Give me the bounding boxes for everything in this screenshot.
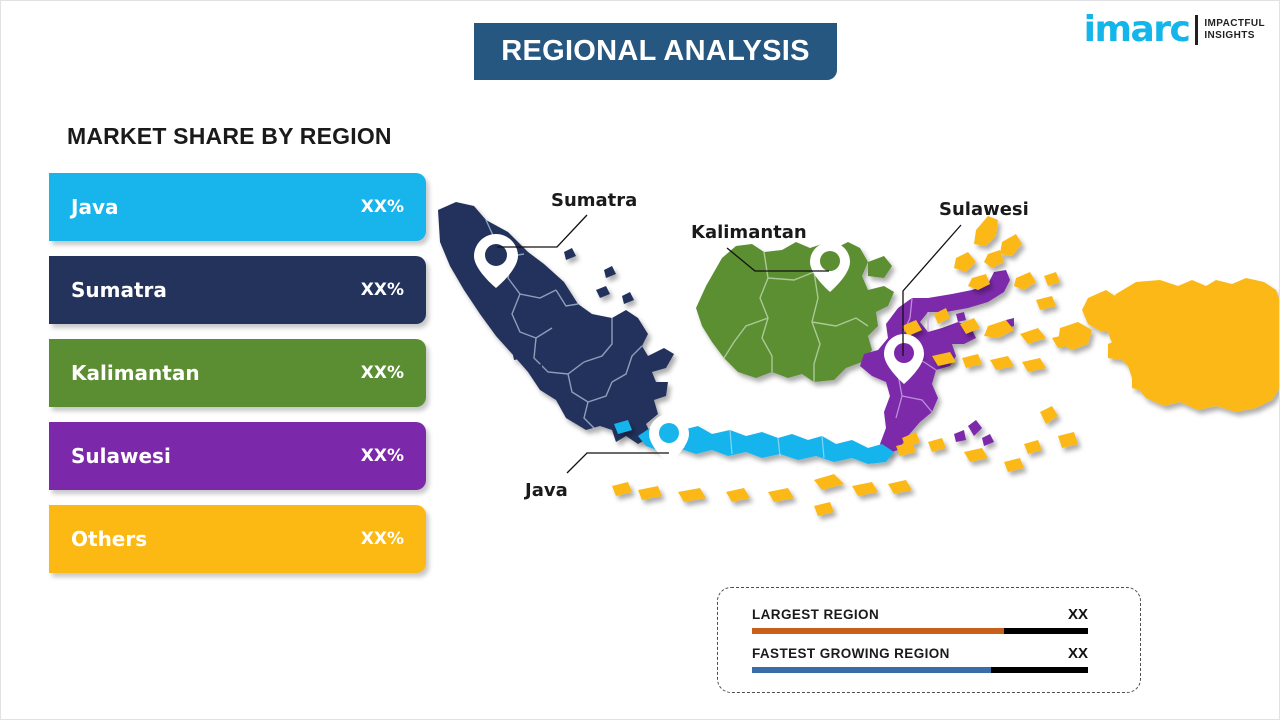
map-label-kalimantan: Kalimantan [691,222,807,243]
stat-label: LARGEST REGION [752,607,1054,622]
stat-row-fastest-growing-region: FASTEST GROWING REGION XX [752,645,1088,673]
stat-track [752,667,1088,673]
stat-fill [752,667,991,673]
stat-value: XX [1054,606,1088,623]
region-stats-box: LARGEST REGION XX FASTEST GROWING REGION… [717,587,1141,693]
stat-fill [752,628,1004,634]
map-label-sumatra: Sumatra [551,190,637,211]
map-label-java: Java [525,480,568,501]
stat-label: FASTEST GROWING REGION [752,646,1054,661]
map-label-sulawesi: Sulawesi [939,199,1029,220]
stat-row-largest-region: LARGEST REGION XX [752,606,1088,634]
stat-track [752,628,1088,634]
slide-canvas: REGIONAL ANALYSIS imarc IMPACTFUL INSIGH… [0,0,1280,720]
stat-value: XX [1054,645,1088,662]
